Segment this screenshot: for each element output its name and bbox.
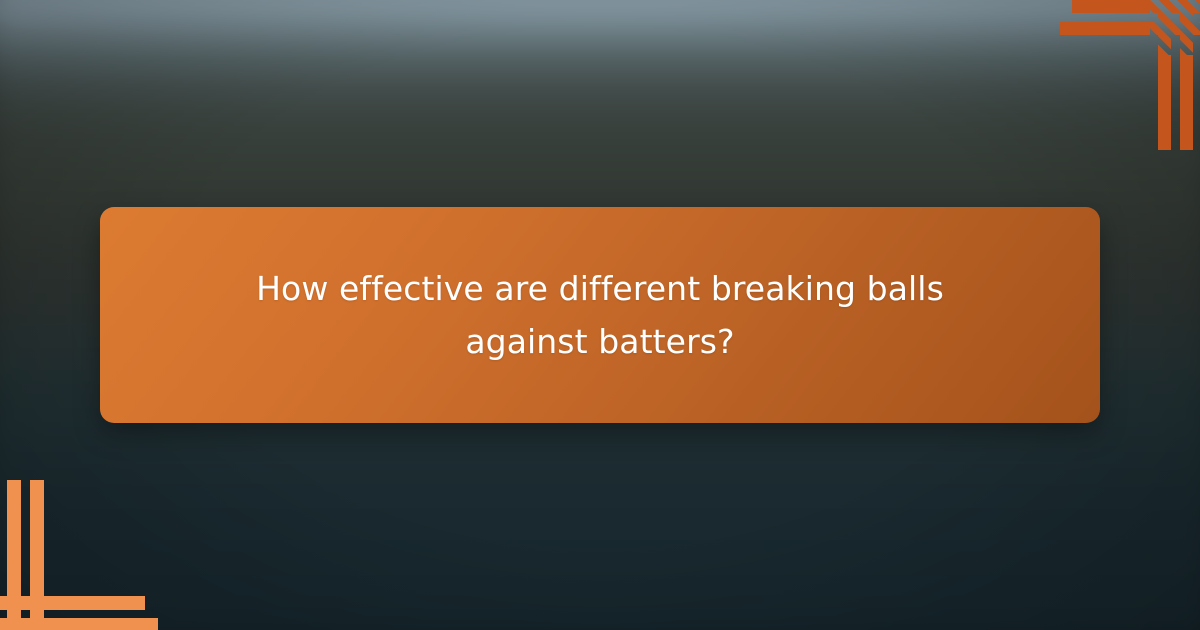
question-text: How effective are different breaking bal… [230,262,970,369]
question-card-graphic: How effective are different breaking bal… [0,0,1200,630]
question-card: How effective are different breaking bal… [100,207,1100,423]
